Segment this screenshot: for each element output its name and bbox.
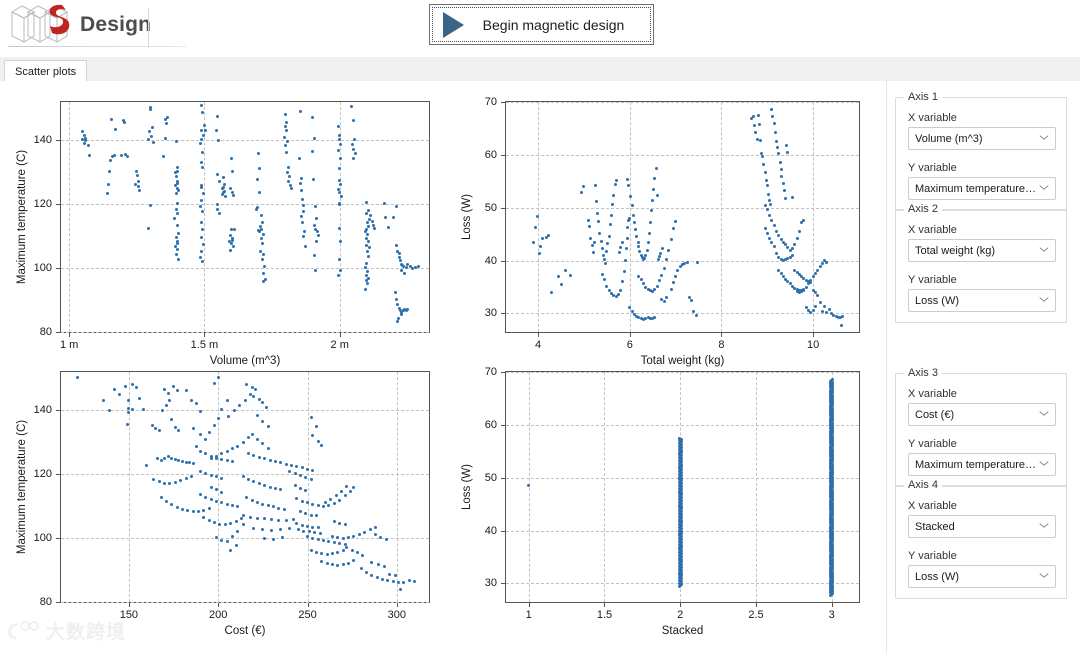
x-variable-value: Volume (m^3) <box>909 133 1037 145</box>
x-tick-mark <box>832 603 833 607</box>
x-tick-mark <box>604 603 605 607</box>
gridline-vertical <box>529 372 530 602</box>
x-variable-label: X variable <box>908 112 1066 124</box>
data-point <box>527 484 530 487</box>
chevron-down-icon <box>1037 517 1055 536</box>
axis-group-title: Axis 3 <box>904 367 942 379</box>
y-variable-label: Y variable <box>908 438 1066 450</box>
chevron-down-icon <box>1037 455 1055 474</box>
wireframe-blocks-s-logo-icon <box>8 2 74 44</box>
x-variable-select[interactable]: Cost (€) <box>908 403 1056 426</box>
chevron-down-icon <box>1037 179 1055 198</box>
y-variable-value: Loss (W) <box>909 571 1037 583</box>
begin-magnetic-design-button[interactable]: Begin magnetic design <box>429 4 654 45</box>
y-variable-label: Y variable <box>908 274 1066 286</box>
chevron-down-icon <box>1037 567 1055 586</box>
app-title: Design <box>80 13 151 37</box>
y-variable-select[interactable]: Maximum temperature (C) <box>908 177 1056 200</box>
data-point <box>678 437 681 440</box>
begin-button-label: Begin magnetic design <box>464 17 653 33</box>
y-variable-select[interactable]: Loss (W) <box>908 289 1056 312</box>
x-tick-label: 3 <box>829 609 835 621</box>
y-axis-title: Loss (W) <box>461 371 473 603</box>
y-tick-mark <box>501 583 505 584</box>
plot-frame <box>505 371 860 603</box>
axis-group-title: Axis 1 <box>904 91 942 103</box>
x-tick-label: 2 <box>677 609 683 621</box>
tab-strip: Scatter plots <box>0 57 1080 82</box>
logo-divider-horizontal <box>8 46 186 47</box>
y-variable-value: Maximum temperature (C) <box>909 183 1037 195</box>
y-variable-value: Loss (W) <box>909 295 1037 307</box>
y-tick-mark <box>501 478 505 479</box>
x-tick-mark <box>680 603 681 607</box>
chevron-down-icon <box>1037 291 1055 310</box>
main-content: 801001201401 m1.5 m2 mVolume (m^3)Maximu… <box>0 81 1080 653</box>
chevron-down-icon <box>1037 129 1055 148</box>
x-variable-select[interactable]: Volume (m^3) <box>908 127 1056 150</box>
chevron-down-icon <box>1037 241 1055 260</box>
axis-group-3: Axis 3X variableCost (€)Y variableMaximu… <box>895 373 1067 487</box>
x-tick-label: 1 <box>526 609 532 621</box>
app-header: Design Begin magnetic design <box>0 0 1080 57</box>
x-tick-label: 2.5 <box>748 609 763 621</box>
tab-label: Scatter plots <box>15 66 76 78</box>
x-variable-label: X variable <box>908 388 1066 400</box>
app-logo: Design <box>8 2 151 44</box>
y-variable-select[interactable]: Loss (W) <box>908 565 1056 588</box>
y-tick-mark <box>501 372 505 373</box>
x-tick-mark <box>529 603 530 607</box>
x-variable-select[interactable]: Stacked <box>908 515 1056 538</box>
axis-group-title: Axis 4 <box>904 479 942 491</box>
y-variable-label: Y variable <box>908 162 1066 174</box>
gridline-horizontal <box>506 425 859 426</box>
x-variable-value: Stacked <box>909 521 1037 533</box>
y-variable-label: Y variable <box>908 550 1066 562</box>
chevron-down-icon <box>1037 405 1055 424</box>
logo-divider-vertical <box>148 8 149 48</box>
x-variable-value: Total weight (kg) <box>909 245 1037 257</box>
x-variable-label: X variable <box>908 224 1066 236</box>
gridline-horizontal <box>506 372 859 373</box>
play-triangle-icon <box>443 12 464 38</box>
y-tick-mark <box>501 425 505 426</box>
y-tick-mark <box>501 531 505 532</box>
x-variable-label: X variable <box>908 500 1066 512</box>
axis-group-title: Axis 2 <box>904 203 942 215</box>
x-variable-value: Cost (€) <box>909 409 1037 421</box>
axis-group-1: Axis 1X variableVolume (m^3)Y variableMa… <box>895 97 1067 211</box>
y-variable-select[interactable]: Maximum temperature (C) <box>908 453 1056 476</box>
x-variable-select[interactable]: Total weight (kg) <box>908 239 1056 262</box>
axis-settings-panel: Axis 1X variableVolume (m^3)Y variableMa… <box>886 81 1080 653</box>
scatter-plot-axis4: 304050607011.522.53StackedLoss (W) <box>0 81 886 653</box>
x-tick-mark <box>756 603 757 607</box>
axis-group-2: Axis 2X variableTotal weight (kg)Y varia… <box>895 209 1067 323</box>
y-variable-value: Maximum temperature (C) <box>909 459 1037 471</box>
tab-scatter-plots[interactable]: Scatter plots <box>4 60 87 82</box>
x-tick-label: 1.5 <box>597 609 612 621</box>
x-axis-title: Stacked <box>505 625 860 637</box>
gridline-vertical <box>604 372 605 602</box>
gridline-vertical <box>756 372 757 602</box>
axis-group-4: Axis 4X variableStackedY variableLoss (W… <box>895 485 1067 599</box>
